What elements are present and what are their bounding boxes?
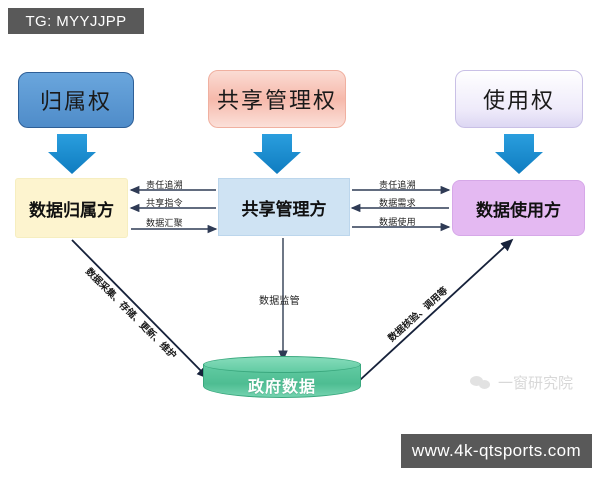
wechat-account-name: 一窗研究院 [498,372,573,393]
down-arrow-icon-sharing [253,134,301,174]
actor-box-sharing-manager: 共享管理方 [218,178,350,236]
connector-label-left-1: 责任追溯 [146,178,183,191]
down-arrow-icon-usage [495,134,543,174]
concept-box-ownership: 归属权 [18,72,134,128]
connector-label-diagonal-right: 数据核验、调用等 [384,283,450,344]
connector-label-right-2: 数据需求 [379,196,416,209]
connector-diagonal-right [360,240,512,380]
connector-label-left-3: 数据汇聚 [146,216,183,229]
down-arrow-icon-ownership [48,134,96,174]
connector-label-right-1: 责任追溯 [379,178,416,191]
connector-label-right-3: 数据使用 [379,215,416,228]
datastore-label: 政府数据 [203,370,361,400]
connector-label-left-2: 共享指令 [146,196,183,209]
actor-box-data-owner: 数据归属方 [15,178,128,238]
datastore-government-data: 政府数据 [203,356,361,402]
actor-box-data-user: 数据使用方 [452,180,585,236]
concept-box-usage: 使用权 [455,70,583,128]
connector-label-center: 数据监管 [259,292,300,307]
connector-diagonal-left [72,240,208,378]
website-watermark-badge: www.4k-qtsports.com [401,434,592,468]
telegram-watermark-badge: TG: MYYJJPP [8,8,144,34]
wechat-watermark: 一窗研究院 [470,372,573,393]
diagram-canvas: 归属权 共享管理权 使用权 数据归属方 共享管理方 数据使用方 责任追溯 共享指… [0,0,600,480]
connector-label-diagonal-left: 数据采集、存储、更新、维护 [83,264,180,361]
chat-bubble-icon [470,375,492,390]
concept-box-sharing: 共享管理权 [208,70,346,128]
